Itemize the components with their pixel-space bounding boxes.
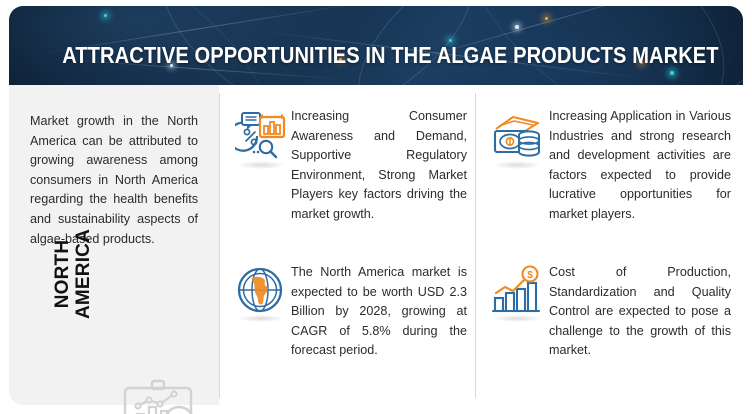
- region-panel: Market growth in the North America can b…: [9, 85, 219, 405]
- growth-chart-dollar-icon: $: [491, 265, 543, 322]
- globe-icon: [235, 265, 287, 322]
- content-area: Market growth in the North America can b…: [9, 85, 743, 405]
- divider-left: [219, 93, 220, 398]
- divider-right: [475, 93, 476, 398]
- header-spark-cyan-1: [104, 14, 107, 17]
- insight-text: Increasing Consumer Awareness and Demand…: [291, 107, 467, 225]
- infographic-page: ATTRACTIVE OPPORTUNITIES IN THE ALGAE PR…: [0, 0, 752, 414]
- consumer-insight-chart-icon: [235, 109, 287, 168]
- header-spark-cyan-2: [670, 71, 674, 75]
- svg-text:$: $: [527, 270, 533, 281]
- header-spark-orange-1: [545, 17, 548, 20]
- region-label: NORTH AMERICA: [52, 204, 94, 344]
- page-title: ATTRACTIVE OPPORTUNITIES IN THE ALGAE PR…: [62, 42, 690, 69]
- insight-text: Increasing Application in Various Indust…: [549, 107, 731, 225]
- presentation-chart-search-icon: [119, 378, 205, 414]
- money-cash-coins-icon: [491, 109, 543, 166]
- insight-text: The North America market is expected to …: [291, 263, 467, 361]
- insight-text: Cost of Production, Standardization and …: [549, 263, 731, 361]
- header-banner: ATTRACTIVE OPPORTUNITIES IN THE ALGAE PR…: [9, 6, 743, 85]
- header-spark-white-1: [515, 25, 519, 29]
